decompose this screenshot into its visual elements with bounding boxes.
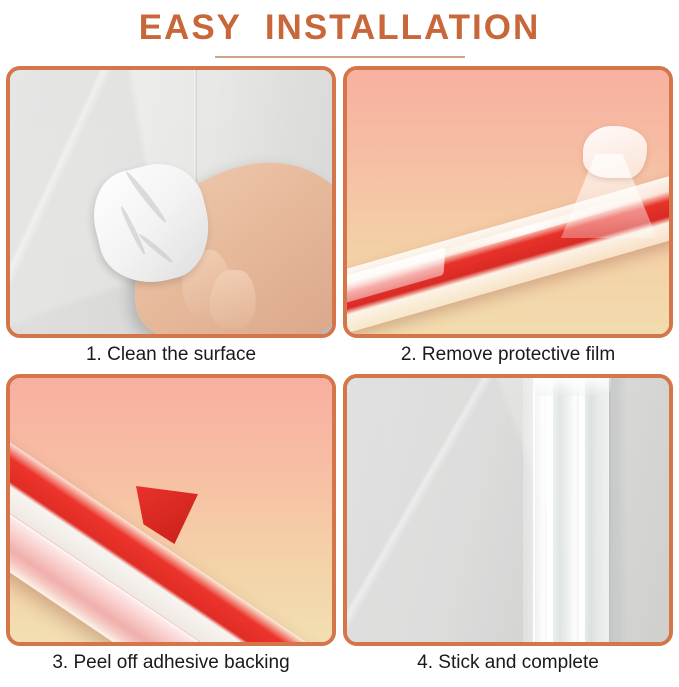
easy-installation-infographic: EASY INSTALLATION 1. Clean the surface [0, 0, 679, 687]
step-1-caption: 1. Clean the surface [6, 340, 336, 370]
title-divider [215, 56, 465, 58]
step-1-photo [6, 66, 336, 338]
step-card-4: 4. Stick and complete [343, 374, 673, 682]
seal-shadow [609, 378, 627, 642]
seal-highlight-left [547, 378, 553, 642]
step-4-photo [343, 374, 673, 646]
seal-highlight-right [579, 378, 585, 642]
step-card-1: 1. Clean the surface [6, 66, 336, 374]
steps-grid: 1. Clean the surface 2. Remove protectiv… [6, 66, 673, 682]
protective-film-pulled [583, 126, 647, 178]
step-card-2: 2. Remove protective film [343, 66, 673, 374]
header: EASY INSTALLATION [0, 0, 679, 58]
step-2-photo [343, 66, 673, 338]
step-2-caption: 2. Remove protective film [343, 340, 673, 370]
step-3-photo [6, 374, 336, 646]
seal-top-end [533, 378, 611, 396]
step-3-caption: 3. Peel off adhesive backing [6, 648, 336, 678]
step-4-caption: 4. Stick and complete [343, 648, 673, 678]
installed-seal [533, 378, 611, 642]
page-title: EASY INSTALLATION [0, 6, 679, 50]
step-card-3: 3. Peel off adhesive backing [6, 374, 336, 682]
